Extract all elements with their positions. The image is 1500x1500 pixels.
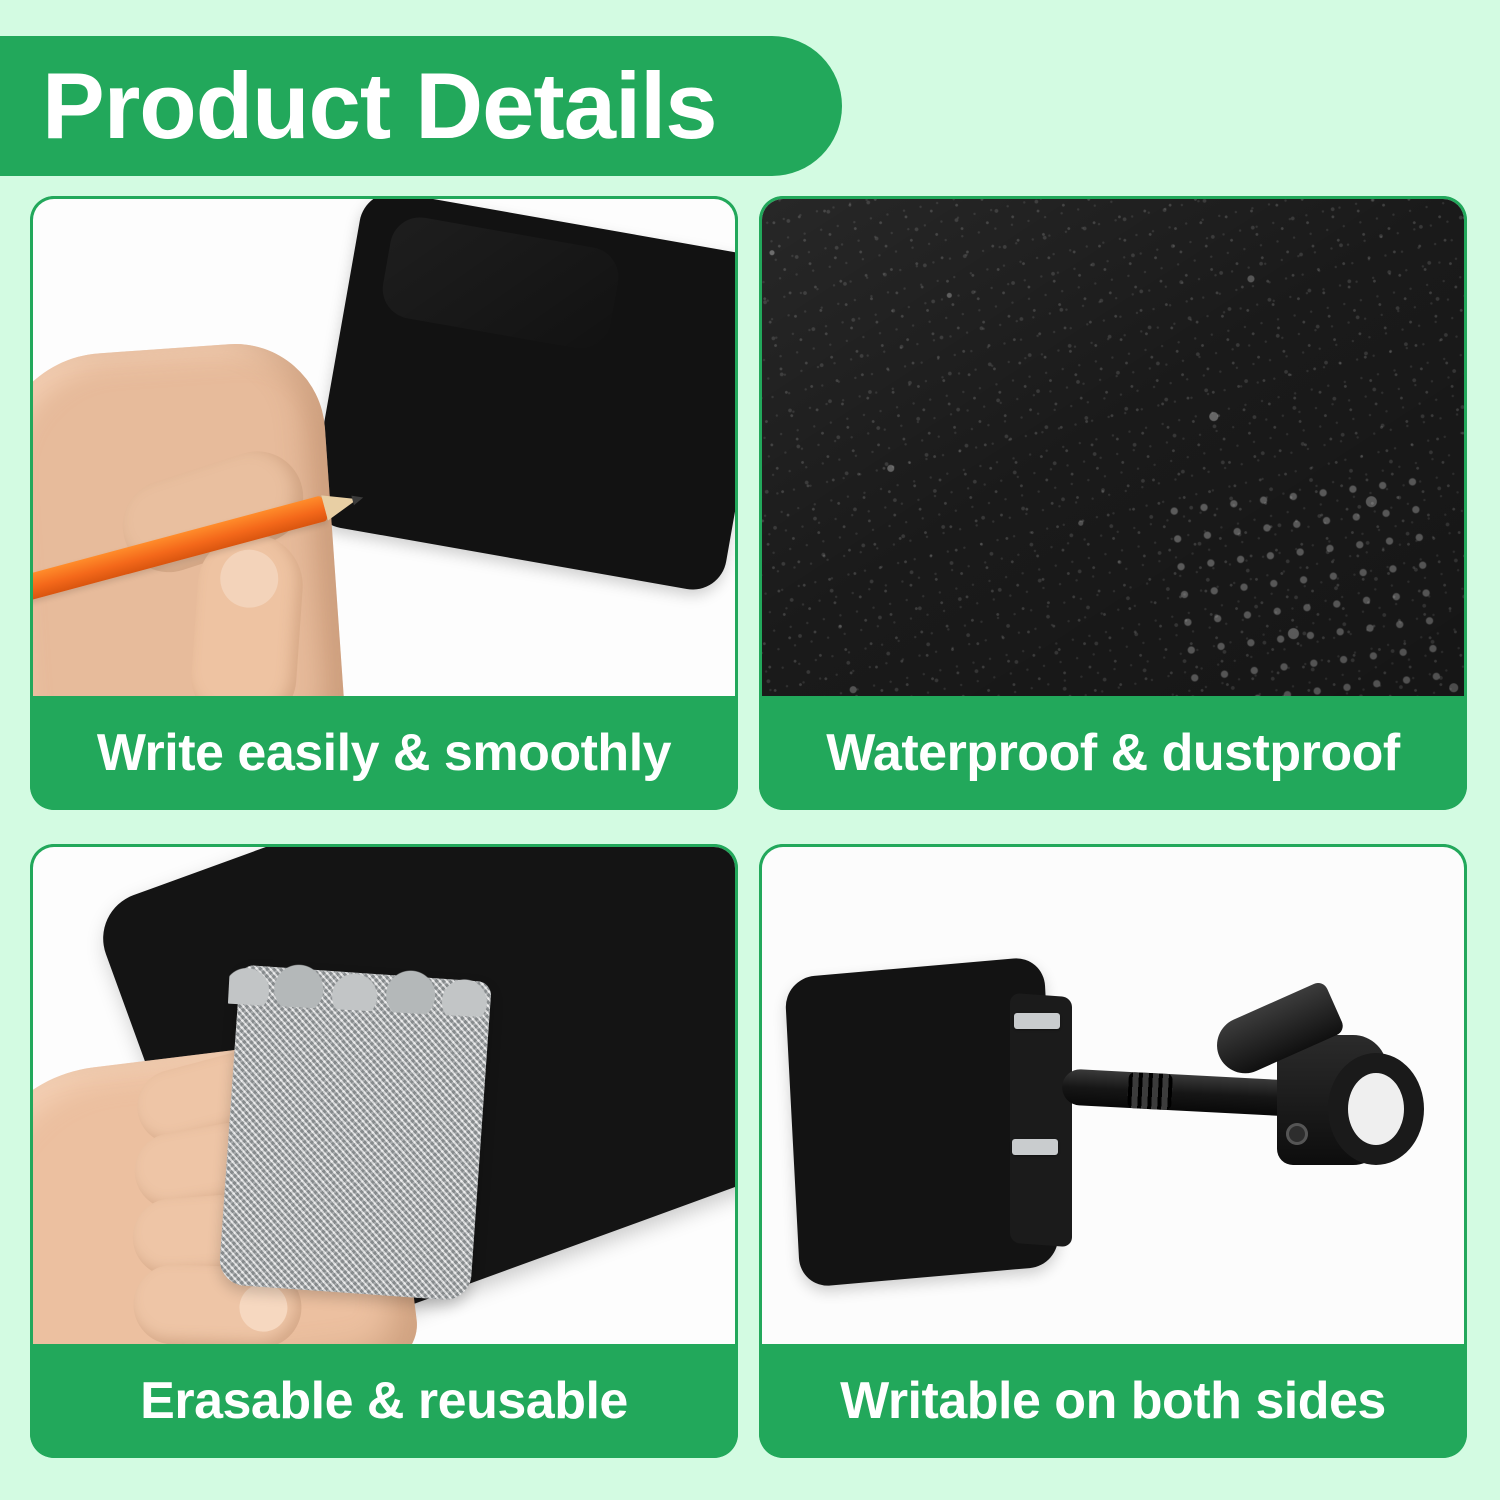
black-board-illustration	[759, 196, 1467, 696]
photo-both-sides	[759, 844, 1467, 1344]
clamp-screw-icon	[1286, 1123, 1308, 1145]
hinge-pin-icon	[1012, 1139, 1058, 1155]
caption-write-easily: Write easily & smoothly	[30, 696, 738, 810]
surface-sheen	[759, 196, 1467, 696]
feature-card-waterproof[interactable]: Waterproof & dustproof	[759, 196, 1467, 810]
black-board-illustration	[307, 196, 738, 595]
caption-both-sides: Writable on both sides	[759, 1344, 1467, 1458]
photo-waterproof	[759, 196, 1467, 696]
photo-erasable	[30, 844, 738, 1344]
support-arm-illustration	[1061, 1068, 1313, 1117]
page-title: Product Details	[42, 59, 717, 153]
feature-card-erasable[interactable]: Erasable & reusable	[30, 844, 738, 1458]
caption-erasable: Erasable & reusable	[30, 1344, 738, 1458]
feature-card-both-sides[interactable]: Writable on both sides	[759, 844, 1467, 1458]
hand-illustration	[30, 338, 347, 696]
hinge-pin-icon	[1014, 1013, 1060, 1029]
caption-waterproof: Waterproof & dustproof	[759, 696, 1467, 810]
clamp-ring-illustration	[1328, 1053, 1424, 1165]
arm-grip-rings	[1127, 1072, 1173, 1110]
feature-cards-grid: Write easily & smoothly Waterproof & dus…	[30, 196, 1467, 1458]
header-banner: Product Details	[0, 36, 842, 176]
photo-write-easily	[30, 196, 738, 696]
feature-card-write[interactable]: Write easily & smoothly	[30, 196, 738, 810]
hinge-illustration	[1010, 993, 1072, 1247]
